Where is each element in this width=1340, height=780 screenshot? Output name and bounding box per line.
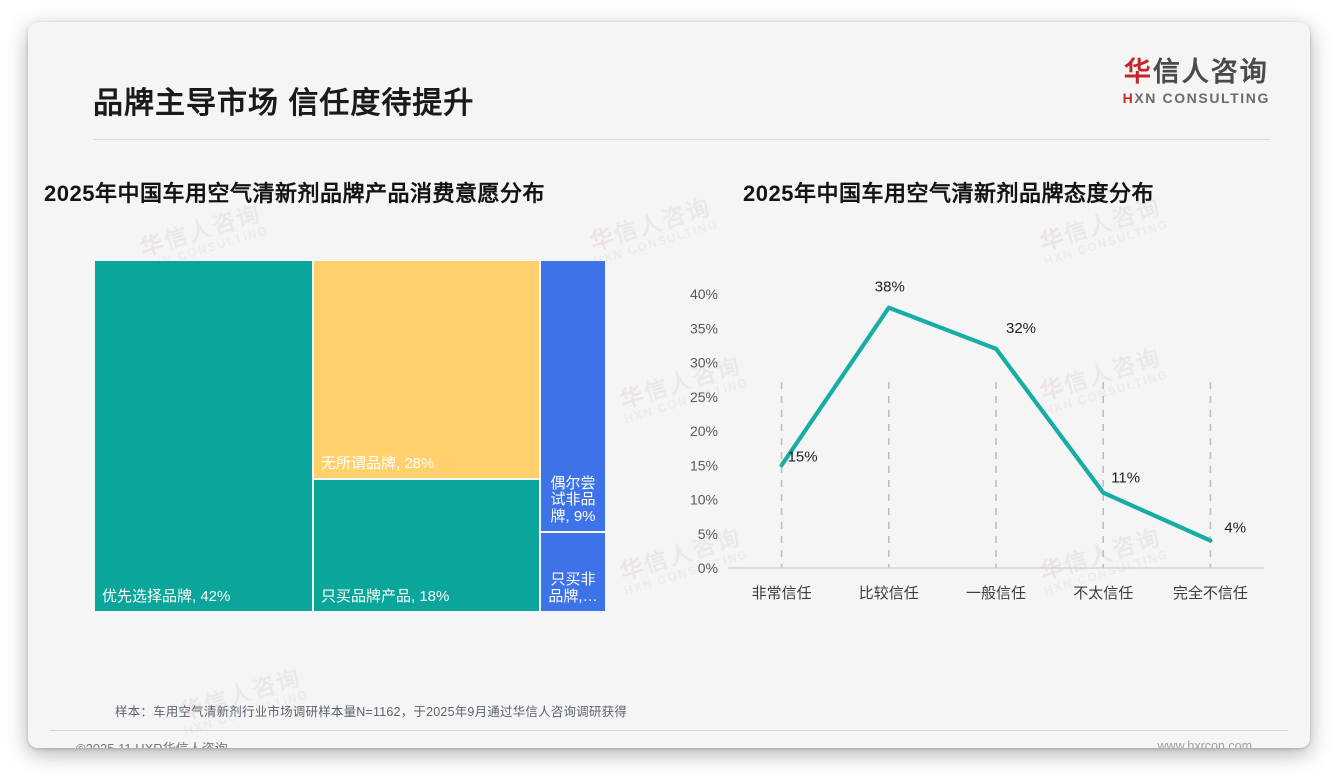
treemap-cell-label: 优先选择品牌, 42% <box>102 589 308 606</box>
slide-card: 华信人咨询 HXN CONSULTING 华信人咨询 HXN CONSULTIN… <box>28 22 1310 748</box>
x-axis-tick-labels: 非常信任比较信任一般信任不太信任完全不信任 <box>752 584 1248 602</box>
x-axis-tick-label: 完全不信任 <box>1173 584 1248 602</box>
data-point-label: 15% <box>788 448 818 465</box>
treemap-cell[interactable]: 优先选择品牌, 42% <box>94 260 313 612</box>
logo-en-text: HXN CONSULTING <box>1123 91 1270 105</box>
treemap-cell-label: 只买非品牌,… <box>541 572 605 606</box>
brand-logo: 华信人咨询 HXN CONSULTING <box>1123 59 1270 105</box>
treemap-chart: 优先选择品牌, 42% 无所谓品牌, 28% 只买品牌产品, 18% 偶尔尝试非… <box>94 260 606 612</box>
data-point-label: 38% <box>875 279 905 296</box>
treemap-cell-label: 只买品牌产品, 18% <box>321 589 535 606</box>
footer-website[interactable]: www.hxrcon.com <box>1158 739 1252 748</box>
treemap-cell[interactable]: 只买品牌产品, 18% <box>313 479 540 612</box>
x-axis-tick-label: 比较信任 <box>859 584 919 602</box>
y-axis-tick-label: 0% <box>698 560 718 576</box>
watermark-cn: 华信人咨询 <box>135 200 266 261</box>
x-axis-tick-label: 一般信任 <box>966 585 1026 602</box>
vertical-gridlines <box>782 382 1211 568</box>
footer-copyright: ©2025.11 HXR华信人咨询 <box>76 738 228 748</box>
left-chart-title: 2025年中国车用空气清新剂品牌产品消费意愿分布 <box>44 176 545 208</box>
logo-cn-text: 华信人咨询 <box>1123 59 1270 86</box>
page-title: 品牌主导市场 信任度待提升 <box>93 89 474 119</box>
footer-divider <box>50 730 1288 731</box>
x-axis-tick-label: 不太信任 <box>1073 585 1133 602</box>
y-axis-tick-label: 35% <box>690 320 718 336</box>
data-point-label: 32% <box>1006 320 1036 337</box>
y-axis-tick-labels: 0%5%10%15%20%25%30%35%40% <box>690 286 718 576</box>
treemap-cell[interactable]: 无所谓品牌, 28% <box>313 260 540 479</box>
line-chart: 0%5%10%15%20%25%30%35%40% 15%38%32%11%4%… <box>648 260 1288 612</box>
y-axis-tick-label: 25% <box>690 389 718 405</box>
y-axis-tick-label: 40% <box>690 286 718 302</box>
y-axis-tick-label: 30% <box>690 355 718 371</box>
treemap-cell-label: 偶尔尝试非品牌, 9% <box>541 476 605 526</box>
data-point-labels: 15%38%32%11%4% <box>788 279 1246 537</box>
right-chart-title: 2025年中国车用空气清新剂品牌态度分布 <box>743 176 1154 208</box>
treemap-cell[interactable]: 只买非品牌,… <box>540 532 606 612</box>
header: 品牌主导市场 信任度待提升 华信人咨询 HXN CONSULTING <box>28 22 1310 140</box>
line-chart-svg: 0%5%10%15%20%25%30%35%40% 15%38%32%11%4%… <box>648 260 1288 612</box>
treemap-cell-label: 无所谓品牌, 28% <box>321 456 535 473</box>
sample-note: 样本：车用空气清新剂行业市场调研样本量N=1162，于2025年9月通过华信人咨… <box>115 701 627 720</box>
header-divider <box>93 139 1270 140</box>
x-axis-tick-label: 非常信任 <box>752 585 812 602</box>
treemap-cell[interactable]: 偶尔尝试非品牌, 9% <box>540 260 606 532</box>
watermark-cn: 华信人咨询 <box>585 194 716 255</box>
watermark: 华信人咨询 HXN CONSULTING <box>585 194 720 268</box>
data-point-label: 11% <box>1111 470 1140 487</box>
y-axis-tick-label: 15% <box>690 457 718 473</box>
y-axis-tick-label: 5% <box>698 526 718 542</box>
y-axis-tick-label: 20% <box>690 423 718 439</box>
y-axis-tick-label: 10% <box>690 492 718 508</box>
data-point-label: 4% <box>1224 520 1246 537</box>
